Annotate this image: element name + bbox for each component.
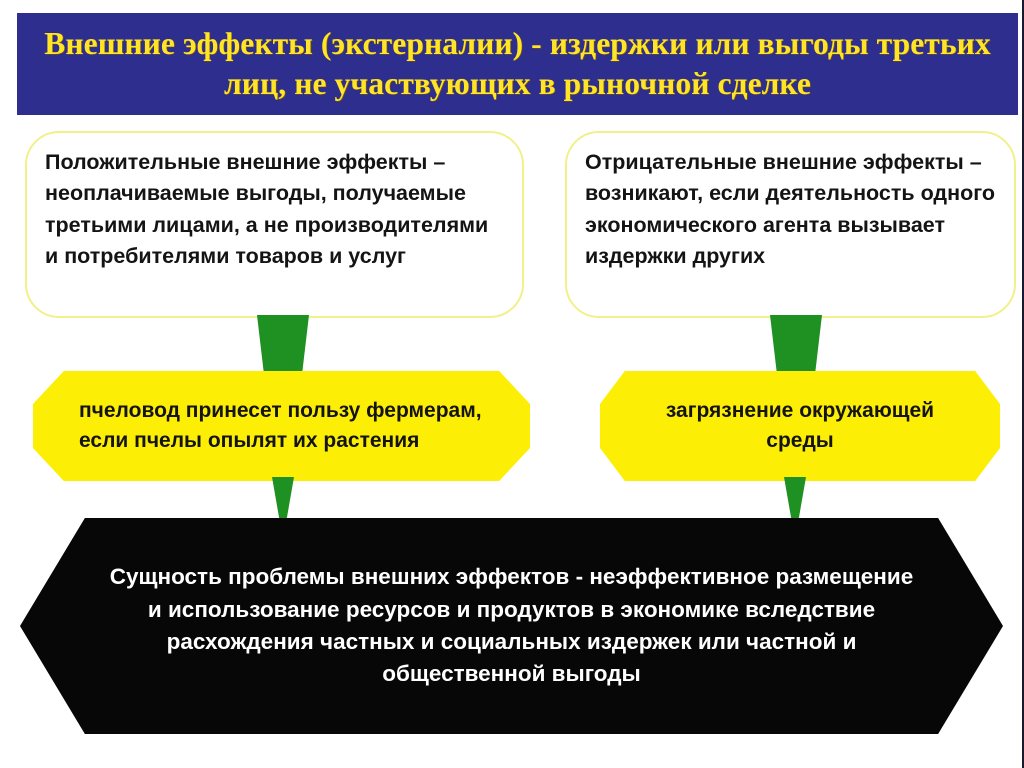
example-text-negative: загрязнение окружающей среды <box>638 396 962 456</box>
definition-box-positive-externalities: Положительные внешние эффекты – неоплачи… <box>25 131 524 318</box>
conclusion-text: Сущность проблемы внешних эффектов - неэ… <box>100 561 923 691</box>
down-arrow-icon-positive-to-conclusion <box>272 477 294 525</box>
down-arrow-icon-negative-to-example <box>770 315 822 377</box>
down-arrow-icon-positive-to-example <box>257 315 309 377</box>
page-title: Внешние эффекты (экстерналии) - издержки… <box>17 24 1018 105</box>
slide-canvas: Внешние эффекты (экстерналии) - издержки… <box>0 0 1024 768</box>
example-banner-positive: пчеловод принесет пользу фермерам, если … <box>33 371 530 481</box>
example-banner-negative: загрязнение окружающей среды <box>600 371 1000 481</box>
definition-text-positive: Положительные внешние эффекты – неоплачи… <box>45 147 506 273</box>
conclusion-banner: Сущность проблемы внешних эффектов - неэ… <box>20 518 1003 734</box>
slide-title-bar: Внешние эффекты (экстерналии) - издержки… <box>17 13 1018 115</box>
definition-box-negative-externalities: Отрицательные внешние эффекты – возникаю… <box>565 131 1016 318</box>
definition-text-negative: Отрицательные внешние эффекты – возникаю… <box>585 147 998 273</box>
down-arrow-icon-negative-to-conclusion <box>784 477 806 525</box>
example-text-positive: пчеловод принесет пользу фермерам, если … <box>79 396 490 456</box>
